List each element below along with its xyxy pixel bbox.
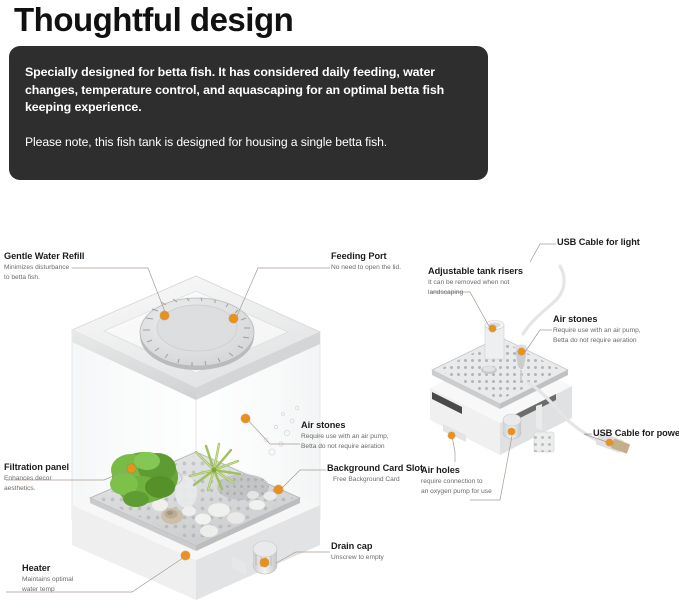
marker-dot-drain-cap[interactable] <box>260 558 269 567</box>
annotation-subtext-line-1: Enhances decor <box>4 474 69 483</box>
marker-dot-air-holes-right[interactable] <box>508 428 515 435</box>
annotation-subtext-line-1: It can be removed when not <box>428 278 523 287</box>
annotation-subtext-line-2: to betta fish. <box>4 273 84 282</box>
marker-dot-heater[interactable] <box>181 551 190 560</box>
annotation-subtext-line-2: Betta do not require aeration <box>553 336 641 345</box>
annotation-heading: Air stones <box>553 313 641 325</box>
annotation-adjustable-tank-risers: Adjustable tank risers It can be removed… <box>428 265 523 297</box>
marker-dot-adjustable-tank-risers[interactable] <box>489 325 496 332</box>
annotation-subtext-line-1: Unscrew to empty <box>331 553 384 562</box>
annotation-heading: USB Cable for power <box>593 427 679 439</box>
drain-knob-base <box>503 414 521 439</box>
annotation-heading: Background Card Slot <box>327 462 423 474</box>
loose-air-stone <box>534 432 554 452</box>
annotation-subtext-line-1: Require use with an air pump, <box>553 326 641 335</box>
annotation-subtext-line-2: Betta do not require aeration <box>301 442 389 451</box>
annotation-heater: Heater Maintains optimal water temp <box>22 562 73 594</box>
annotation-subtext-line-2: an oxygen pump for use <box>421 487 492 496</box>
annotation-subtext-line-1: Maintains optimal <box>22 575 73 584</box>
annotation-subtext-line-2: aesthetics. <box>4 484 69 493</box>
annotation-heading: Heater <box>22 562 73 574</box>
marker-dot-filtration-panel[interactable] <box>127 464 136 473</box>
annotation-heading: Adjustable tank risers <box>428 265 523 277</box>
annotation-air-holes: Air holes require connection to an oxyge… <box>421 464 492 496</box>
annotation-heading: Feeding Port <box>331 250 401 262</box>
annotation-subtext-line-1: Require use with an air pump, <box>301 432 389 441</box>
feeding-port-dial <box>140 298 254 370</box>
marker-dot-feeding-port[interactable] <box>229 314 238 323</box>
marker-dot-air-stones-right[interactable] <box>518 348 525 355</box>
annotation-filtration-panel: Filtration panel Enhances decor aestheti… <box>4 461 69 493</box>
annotation-air-stones-left: Air stones Require use with an air pump,… <box>301 419 389 451</box>
annotation-subtext-line-1: require connection to <box>421 477 492 486</box>
marker-dot-gentle-water-refill[interactable] <box>160 311 169 320</box>
annotation-subtext-line-2: landscaping <box>428 288 523 297</box>
marker-dot-air-stones-left[interactable] <box>241 414 250 423</box>
marker-dot-air-holes-left[interactable] <box>448 432 455 439</box>
annotation-subtext-line-2: water temp <box>22 585 73 594</box>
product-illustration-layer <box>0 0 679 616</box>
annotation-heading: Drain cap <box>331 540 384 552</box>
annotation-usb-cable-for-light: USB Cable for light <box>557 236 640 248</box>
annotation-drain-cap: Drain cap Unscrew to empty <box>331 540 384 562</box>
annotation-gentle-water-refill: Gentle Water Refill Minimizes disturbanc… <box>4 250 84 282</box>
main-tank-illustration <box>72 276 320 600</box>
annotation-subtext-line-1: Free Background Card <box>333 475 423 484</box>
annotation-heading: Filtration panel <box>4 461 69 473</box>
annotation-air-stones-right: Air stones Require use with an air pump,… <box>553 313 641 345</box>
annotation-usb-cable-for-power: USB Cable for power <box>593 427 679 439</box>
marker-dot-background-card-slot[interactable] <box>274 485 283 494</box>
annotation-feeding-port: Feeding Port No need to open the lid. <box>331 250 401 272</box>
heater-part <box>175 476 197 508</box>
annotation-heading: Air stones <box>301 419 389 431</box>
annotation-background-card-slot: Background Card Slot Free Background Car… <box>327 462 423 484</box>
annotation-heading: Gentle Water Refill <box>4 250 84 262</box>
annotation-subtext-line-1: No need to open the lid. <box>331 263 401 272</box>
annotation-heading: Air holes <box>421 464 492 476</box>
marker-dot-usb-cable-power[interactable] <box>606 439 613 446</box>
annotation-subtext-line-1: Minimizes disturbance <box>4 263 84 272</box>
product-infographic-page: Thoughtful design Specially designed for… <box>0 0 679 616</box>
annotation-heading: USB Cable for light <box>557 236 640 248</box>
